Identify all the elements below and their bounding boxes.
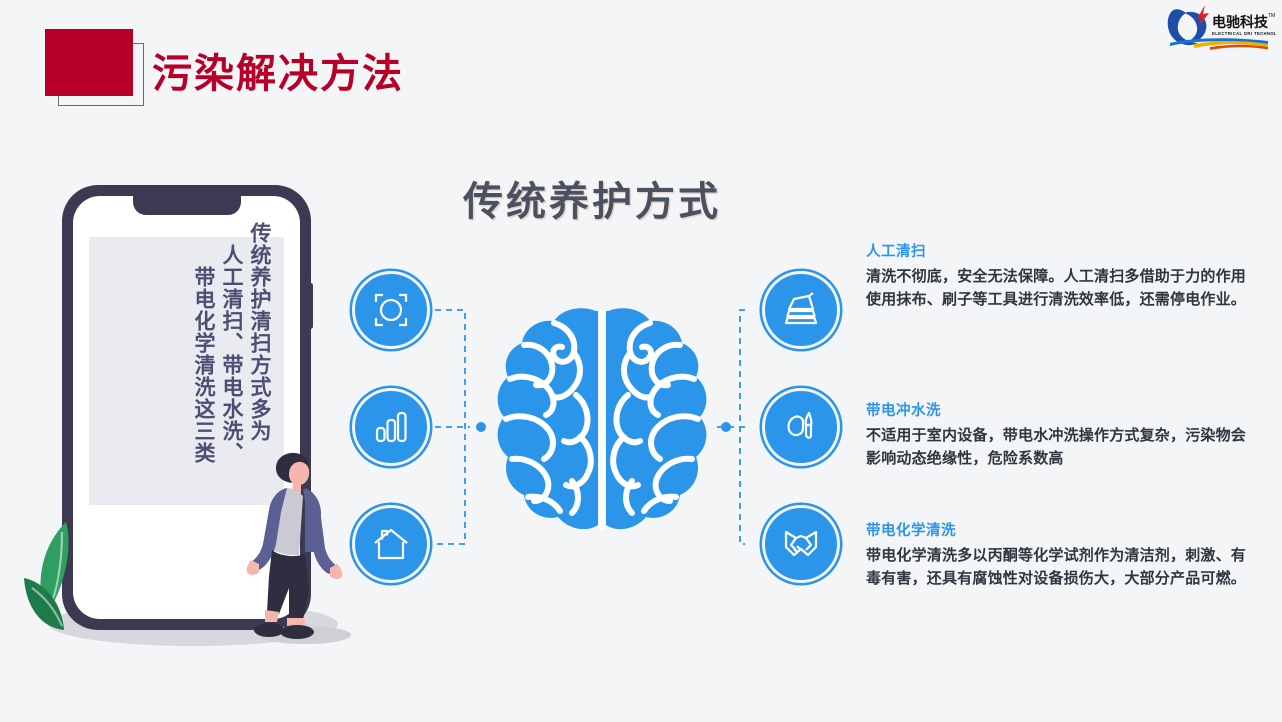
- text-block-2: 带电冲水洗 不适用于室内设备，带电水冲洗操作方式复杂，污染物会影响动态绝缘性，危…: [866, 399, 1246, 471]
- svg-text:ELECTRICAL DRI TECHNOLOGY: ELECTRICAL DRI TECHNOLOGY: [1212, 31, 1276, 36]
- header-red-square: [45, 29, 133, 96]
- stacked-layers-icon[interactable]: [765, 274, 837, 346]
- handshake-icon[interactable]: [765, 508, 837, 580]
- svg-text:TM: TM: [1268, 13, 1275, 19]
- slide-canvas: 污染解决方法 电驰科技 ELECTRICAL DRI TECHNOLOGY TM…: [0, 0, 1282, 722]
- text-block-3: 带电化学清洗 带电化学清洗多以丙酮等化学试剂作为清洁剂，刺激、有毒有害，还具有腐…: [866, 519, 1246, 591]
- plant-leaves-decoration: [22, 520, 142, 635]
- text-block-2-body: 不适用于室内设备，带电水冲洗操作方式复杂，污染物会影响动态绝缘性，危险系数高: [866, 424, 1246, 471]
- text-block-3-title: 带电化学清洗: [866, 519, 1246, 540]
- text-block-3-body: 带电化学清洗多以丙酮等化学试剂作为清洁剂，刺激、有毒有害，还具有腐蚀性对设备损伤…: [866, 544, 1246, 591]
- home-icon[interactable]: [355, 508, 427, 580]
- text-block-1: 人工清扫 清洗不彻底，安全无法保障。人工清扫多借助于力的作用使用抹布、刷子等工具…: [866, 240, 1246, 312]
- text-block-1-body: 清洗不彻底，安全无法保障。人工清扫多借助于力的作用使用抹布、刷子等工具进行清洗效…: [866, 265, 1246, 312]
- section-heading: 传统养护方式: [463, 169, 721, 227]
- company-logo: 电驰科技 ELECTRICAL DRI TECHNOLOGY TM: [1164, 3, 1276, 51]
- focus-frame-icon[interactable]: [355, 274, 427, 346]
- phone-vertical-text: 传统养护清扫方式多为 人工清扫、带电水洗、 带电化学清洗这三类: [70, 222, 270, 507]
- phone-notch: [133, 196, 241, 215]
- svg-text:电驰科技: 电驰科技: [1212, 14, 1269, 31]
- vertical-text-line-2: 人工清扫、带电水洗、: [221, 244, 242, 507]
- text-block-2-title: 带电冲水洗: [866, 399, 1246, 420]
- water-drop-brush-icon[interactable]: [765, 391, 837, 463]
- vertical-text-line-3: 带电化学清洗这三类: [193, 266, 214, 507]
- bar-chart-icon[interactable]: [355, 391, 427, 463]
- connector-dot-right: [721, 422, 731, 432]
- page-title: 污染解决方法: [152, 41, 404, 99]
- text-block-1-title: 人工清扫: [866, 240, 1246, 261]
- person-illustration: [243, 452, 353, 645]
- brain-icon: [484, 303, 720, 553]
- phone-side-button: [308, 283, 313, 329]
